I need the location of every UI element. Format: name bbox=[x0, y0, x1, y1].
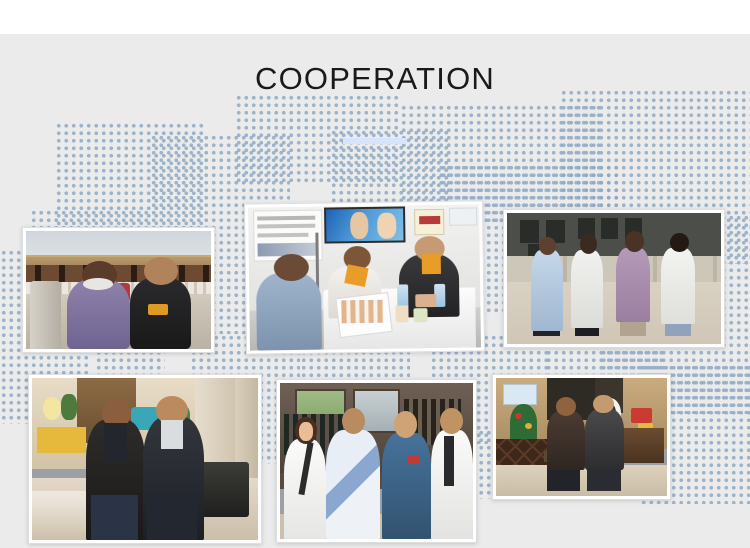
photo-6-image bbox=[496, 378, 667, 496]
photo-2-image bbox=[248, 204, 481, 350]
photo-1-image bbox=[26, 231, 211, 349]
photo-5-image bbox=[280, 383, 473, 539]
photo-3-image bbox=[507, 213, 721, 344]
title-underline-rule bbox=[343, 138, 407, 144]
gallery-photo-3[interactable]: Group photo in front of a factory entran… bbox=[503, 209, 725, 348]
gallery-photo-5[interactable]: Group of four in front of display shelvi… bbox=[276, 379, 477, 543]
gallery-photo-4[interactable]: Two men in a hotel lobby bbox=[28, 374, 262, 544]
gallery-photo-1[interactable]: Two men standing together at a Chinese p… bbox=[22, 227, 215, 353]
cooperation-page: COOPERATION Two men standing together at… bbox=[0, 0, 750, 548]
page-title: COOPERATION bbox=[0, 61, 750, 97]
photo-4-image bbox=[32, 378, 258, 540]
gallery-photo-2[interactable]: Business meeting at an exhibition booth bbox=[244, 200, 485, 354]
content-panel: COOPERATION Two men standing together at… bbox=[0, 34, 750, 548]
gallery-photo-6[interactable]: Two men seated on a bench in a decorated… bbox=[492, 374, 671, 500]
